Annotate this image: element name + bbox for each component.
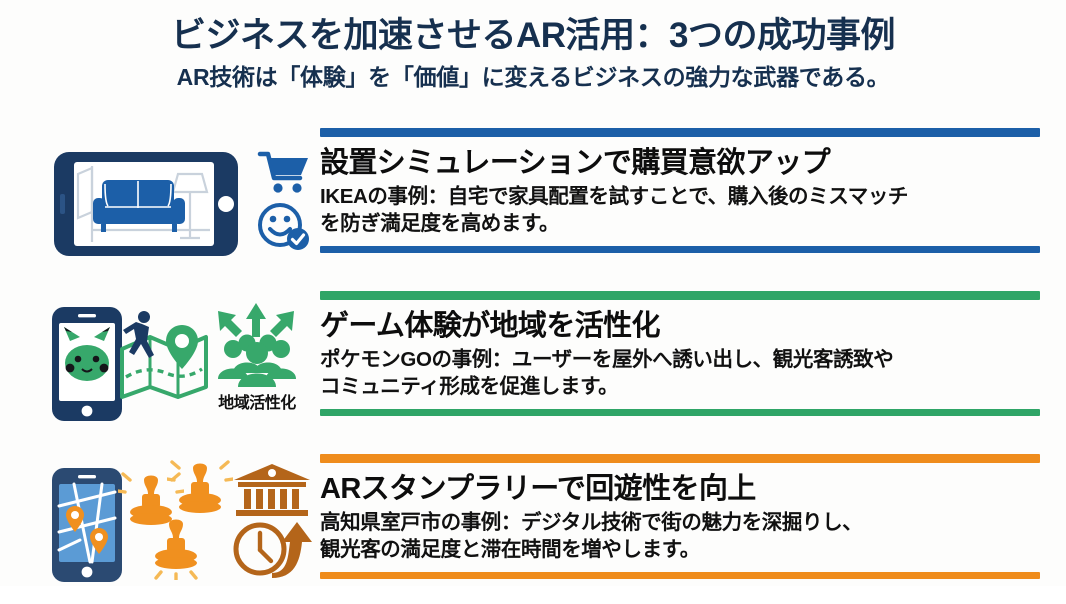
section-1-body: IKEAの事例：自宅で家具配置を試すことで、購入後のミスマッチ を防ぎ満足度を高…: [320, 183, 1040, 237]
icon-caption-regional-revitalization: 地域活性化: [200, 389, 314, 413]
phone-portrait-pokemon-icon: [50, 305, 124, 423]
section-3-top-rule: [320, 454, 1040, 463]
section-2-body: ポケモンGOの事例：ユーザーを屋外へ誘い出し、観光客誘致や コミュニティ形成を促…: [320, 346, 1040, 400]
shopping-cart-icon: [256, 148, 312, 196]
map-walking-pin-icon: [116, 303, 212, 401]
section-3-icons: [0, 454, 320, 604]
clock-up-arrow-icon: [232, 520, 318, 578]
section-1-text: 設置シミュレーションで購買意欲アップ IKEAの事例：自宅で家具配置を試すことで…: [320, 128, 1066, 253]
phone-landscape-ar-sofa-icon: [52, 150, 240, 258]
header: ビジネスを加速させるAR活用：3つの成功事例 AR技術は「体験」を「価値」に変え…: [0, 0, 1066, 91]
section-ar-simulation: 設置シミュレーションで購買意欲アップ IKEAの事例：自宅で家具配置を試すことで…: [0, 128, 1066, 278]
section-3-body-line-2: 観光客の満足度と滞在時間を増やします。: [320, 536, 1040, 563]
section-2-body-line-1: ポケモンGOの事例：ユーザーを屋外へ誘い出し、観光客誘致や: [320, 346, 1040, 373]
section-2-top-rule: [320, 291, 1040, 300]
people-group-arrows-icon: 地域活性化: [202, 301, 312, 389]
section-1-heading: 設置シミュレーションで購買意欲アップ: [320, 146, 1040, 181]
section-1-body-line-2: を防ぎ満足度を高めます。: [320, 210, 1040, 237]
section-3-heading: ARスタンプラリーで回遊性を向上: [320, 472, 1040, 507]
stamp-icon: [143, 516, 209, 580]
section-2-body-line-2: コミュニティ形成を促進します。: [320, 373, 1040, 400]
section-1-bottom-rule: [320, 246, 1040, 253]
section-3-body-line-1: 高知県室戸市の事例：デジタル技術で街の魅力を深掘りし、: [320, 509, 1040, 536]
section-3-bottom-rule: [320, 572, 1040, 579]
section-2-bottom-rule: [320, 409, 1040, 416]
section-2-heading: ゲーム体験が地域を活性化: [320, 309, 1040, 344]
section-1-top-rule: [320, 128, 1040, 137]
page-title: ビジネスを加速させるAR活用：3つの成功事例: [0, 16, 1066, 56]
section-2-icons: 地域活性化: [0, 291, 320, 441]
page-subtitle: AR技術は「体験」を「価値」に変えるビジネスの強力な武器である。: [0, 64, 1066, 90]
section-1-icons: [0, 128, 320, 278]
smiley-check-icon: [256, 200, 312, 252]
section-game-region: 地域活性化 ゲーム体験が地域を活性化 ポケモンGOの事例：ユーザーを屋外へ誘い出…: [0, 291, 1066, 441]
section-list: 設置シミュレーションで購買意欲アップ IKEAの事例：自宅で家具配置を試すことで…: [0, 128, 1066, 604]
section-stamp-rally: ARスタンプラリーで回遊性を向上 高知県室戸市の事例：デジタル技術で街の魅力を深…: [0, 454, 1066, 604]
museum-building-icon: [232, 462, 312, 518]
section-3-text: ARスタンプラリーで回遊性を向上 高知県室戸市の事例：デジタル技術で街の魅力を深…: [320, 454, 1066, 579]
section-3-body: 高知県室戸市の事例：デジタル技術で街の魅力を深掘りし、 観光客の満足度と滞在時間…: [320, 509, 1040, 563]
section-1-body-line-1: IKEAの事例：自宅で家具配置を試すことで、購入後のミスマッチ: [320, 183, 1040, 210]
section-2-text: ゲーム体験が地域を活性化 ポケモンGOの事例：ユーザーを屋外へ誘い出し、観光客誘…: [320, 291, 1066, 416]
phone-portrait-map-pins-icon: [50, 466, 124, 584]
stamp-icon: [167, 456, 233, 520]
infographic-page: ビジネスを加速させるAR活用：3つの成功事例 AR技術は「体験」を「価値」に変え…: [0, 0, 1066, 586]
